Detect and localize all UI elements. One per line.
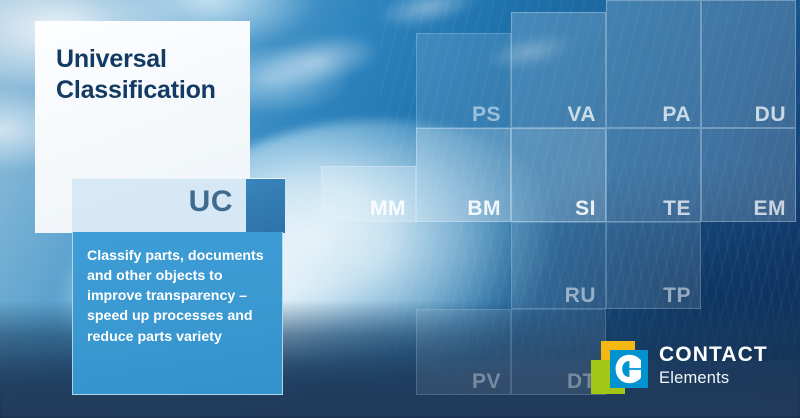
contact-elements-logo: CONTACT Elements xyxy=(591,341,791,399)
module-tile-si[interactable]: SI xyxy=(511,128,606,222)
module-tile-label: PV xyxy=(472,371,501,392)
module-code-strip: UC xyxy=(72,178,285,233)
module-code-label: UC xyxy=(189,187,233,217)
logo-name-secondary: Elements xyxy=(659,369,768,387)
module-tile-ru[interactable]: RU xyxy=(511,222,606,309)
module-tile-label: DU xyxy=(755,104,786,125)
module-tile-label: PA xyxy=(662,104,691,125)
module-code-accent-block xyxy=(246,179,285,233)
module-tile-va[interactable]: VA xyxy=(511,12,606,128)
module-tile-ps[interactable]: PS xyxy=(416,33,511,128)
module-tile-du[interactable]: DU xyxy=(701,0,796,128)
module-tile-label: MM xyxy=(370,198,406,219)
module-tile-pa[interactable]: PA xyxy=(606,0,701,128)
module-tile-em[interactable]: EM xyxy=(701,128,796,222)
description-text: Classify parts, documents and other obje… xyxy=(87,246,267,347)
module-tile-label: RU xyxy=(565,285,596,306)
banner-stage: PSVAPADUMMBMSITEEMRUTPPVDT Universal Cla… xyxy=(0,0,800,418)
logo-name-primary: CONTACT xyxy=(659,344,768,365)
module-tile-label: EM xyxy=(754,198,787,219)
module-tile-bm[interactable]: BM xyxy=(416,128,511,222)
module-tile-mm[interactable]: MM xyxy=(321,166,416,222)
module-tile-label: TE xyxy=(663,198,691,219)
module-tile-label: VA xyxy=(567,104,596,125)
module-tile-label: TP xyxy=(663,285,691,306)
description-card: Classify parts, documents and other obje… xyxy=(72,232,283,395)
module-tile-label: SI xyxy=(575,198,596,219)
module-tile-label: PS xyxy=(472,104,501,125)
module-tile-label: BM xyxy=(467,198,501,219)
module-tile-tp[interactable]: TP xyxy=(606,222,701,309)
page-title: Universal Classification xyxy=(56,44,241,106)
module-tile-pv[interactable]: PV xyxy=(416,309,511,395)
logo-wordmark: CONTACT Elements xyxy=(659,344,768,387)
logo-c-mark-icon xyxy=(613,353,645,385)
module-tile-te[interactable]: TE xyxy=(606,128,701,222)
